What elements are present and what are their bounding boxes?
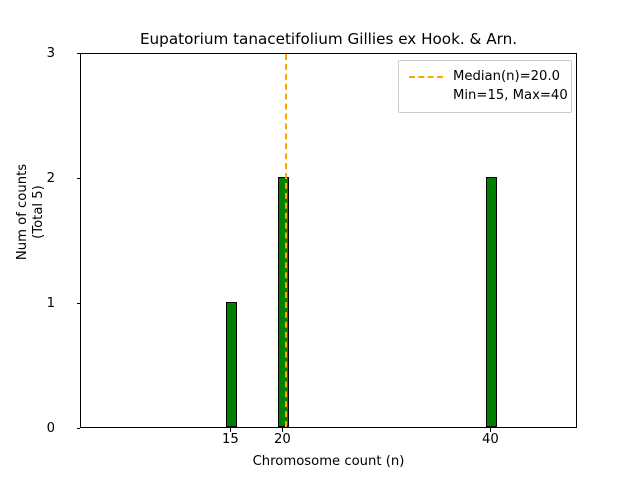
ytick-mark-0 bbox=[77, 428, 81, 429]
legend-entry-median: Median(n)=20.0 bbox=[407, 67, 563, 86]
legend: Median(n)=20.0 Min=15, Max=40 bbox=[398, 60, 572, 113]
legend-label-minmax: Min=15, Max=40 bbox=[453, 86, 568, 105]
xtick-mark-15 bbox=[230, 428, 231, 432]
x-axis-label: Chromosome count (n) bbox=[80, 455, 577, 468]
xtick-label-15: 15 bbox=[200, 433, 260, 446]
xtick-label-20: 20 bbox=[252, 433, 312, 446]
xtick-mark-40 bbox=[490, 428, 491, 432]
legend-dashed-line-icon bbox=[407, 71, 445, 83]
bar-15 bbox=[226, 302, 236, 427]
ytick-label-0: 0 bbox=[47, 422, 55, 435]
xtick-mark-20 bbox=[282, 428, 283, 432]
y-axis-label: Num of counts (Total 5) bbox=[15, 112, 47, 312]
figure-canvas: Eupatorium tanacetifolium Gillies ex Hoo… bbox=[0, 0, 640, 480]
xtick-label-40: 40 bbox=[460, 433, 520, 446]
ytick-label-1: 1 bbox=[47, 297, 55, 310]
ytick-label-3: 3 bbox=[47, 47, 55, 60]
bar-40 bbox=[486, 177, 496, 427]
bar-20 bbox=[278, 177, 288, 427]
ytick-label-2: 2 bbox=[47, 172, 55, 185]
median-line bbox=[285, 54, 287, 427]
legend-label-median: Median(n)=20.0 bbox=[453, 67, 560, 86]
chart-title: Eupatorium tanacetifolium Gillies ex Hoo… bbox=[80, 30, 577, 48]
legend-entry-minmax: Min=15, Max=40 bbox=[407, 86, 563, 105]
